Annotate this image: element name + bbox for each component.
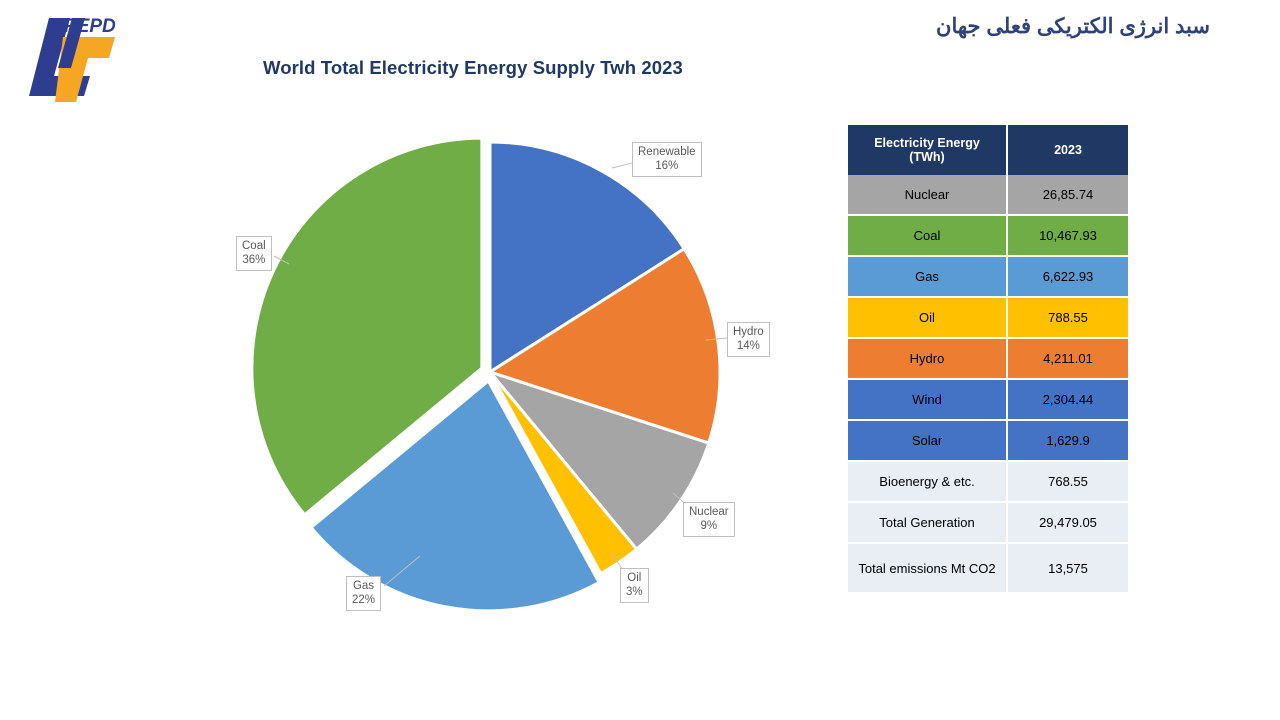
table-cell-value: 4,211.01: [1008, 339, 1128, 380]
logo-letter-p-bar: [82, 42, 109, 54]
pie-chart-svg: [228, 118, 788, 618]
table-cell-value: 1,629.9: [1008, 421, 1128, 462]
energy-data-table: Electricity Energy (TWh) 2023 Nuclear26,…: [848, 125, 1128, 592]
pie-label-coal: Coal 36%: [236, 236, 272, 271]
table-header-category-line1: Electricity Energy: [874, 136, 980, 150]
pie-label-coal-name: Coal: [242, 240, 266, 252]
table-cell-label: Oil: [848, 298, 1008, 339]
table-header-category-line2: (TWh): [909, 150, 944, 164]
pepd-logo: PEPD: [16, 6, 134, 102]
table-cell-value: 768.55: [1008, 462, 1128, 503]
table-cell-value: 26,85.74: [1008, 175, 1128, 216]
pie-label-coal-percent: 36%: [242, 253, 266, 267]
pie-label-nuclear-name: Nuclear: [689, 506, 729, 518]
table-cell-label: Total emissions Mt CO2: [848, 544, 1008, 592]
table-cell-label: Total Generation: [848, 503, 1008, 544]
chart-title: World Total Electricity Energy Supply Tw…: [263, 57, 683, 79]
table-cell-value: 10,467.93: [1008, 216, 1128, 257]
table-body: Nuclear26,85.74Coal10,467.93Gas6,622.93O…: [848, 175, 1128, 592]
table-cell-label: Wind: [848, 380, 1008, 421]
pie-label-oil-percent: 3%: [626, 585, 643, 599]
pie-chart: [228, 118, 788, 618]
pie-label-gas-percent: 22%: [352, 593, 375, 607]
pie-slice-group: [252, 138, 720, 611]
table-cell-value: 13,575: [1008, 544, 1128, 592]
table-cell-label: Gas: [848, 257, 1008, 298]
table-row: Coal10,467.93: [848, 216, 1128, 257]
pie-label-hydro: Hydro 14%: [727, 322, 770, 357]
pie-label-hydro-percent: 14%: [733, 339, 764, 353]
pie-label-oil: Oil 3%: [620, 568, 649, 603]
table-cell-value: 788.55: [1008, 298, 1128, 339]
table-row: Total emissions Mt CO213,575: [848, 544, 1128, 592]
table-row: Hydro4,211.01: [848, 339, 1128, 380]
table-cell-label: Solar: [848, 421, 1008, 462]
pie-label-nuclear-percent: 9%: [689, 519, 729, 533]
table-cell-label: Coal: [848, 216, 1008, 257]
table-row: Total Generation29,479.05: [848, 503, 1128, 544]
table-header-year: 2023: [1008, 125, 1128, 175]
table-cell-label: Bioenergy & etc.: [848, 462, 1008, 503]
pepd-logo-mark: PEPD: [16, 6, 134, 102]
table-row: Nuclear26,85.74: [848, 175, 1128, 216]
pie-label-renewable: Renewable 16%: [632, 142, 702, 177]
table-row: Gas6,622.93: [848, 257, 1128, 298]
table-header-category: Electricity Energy (TWh): [848, 125, 1008, 175]
pie-label-nuclear: Nuclear 9%: [683, 502, 735, 537]
table-row: Solar1,629.9: [848, 421, 1128, 462]
logo-wordmark: PEPD: [64, 16, 116, 37]
table-cell-value: 29,479.05: [1008, 503, 1128, 544]
pie-label-gas: Gas 22%: [346, 576, 381, 611]
pie-label-hydro-name: Hydro: [733, 326, 764, 338]
table-cell-value: 6,622.93: [1008, 257, 1128, 298]
page-heading-persian: سبد انرژی الکتریکی فعلی جهان: [936, 14, 1210, 39]
table-cell-label: Nuclear: [848, 175, 1008, 216]
pie-label-oil-name: Oil: [627, 572, 641, 584]
pie-label-renewable-name: Renewable: [638, 146, 696, 158]
pie-label-gas-name: Gas: [353, 580, 374, 592]
table-row: Oil788.55: [848, 298, 1128, 339]
table-row: Bioenergy & etc.768.55: [848, 462, 1128, 503]
table-cell-value: 2,304.44: [1008, 380, 1128, 421]
table-header-row: Electricity Energy (TWh) 2023: [848, 125, 1128, 175]
table-row: Wind2,304.44: [848, 380, 1128, 421]
table-cell-label: Hydro: [848, 339, 1008, 380]
pie-label-renewable-percent: 16%: [638, 159, 696, 173]
